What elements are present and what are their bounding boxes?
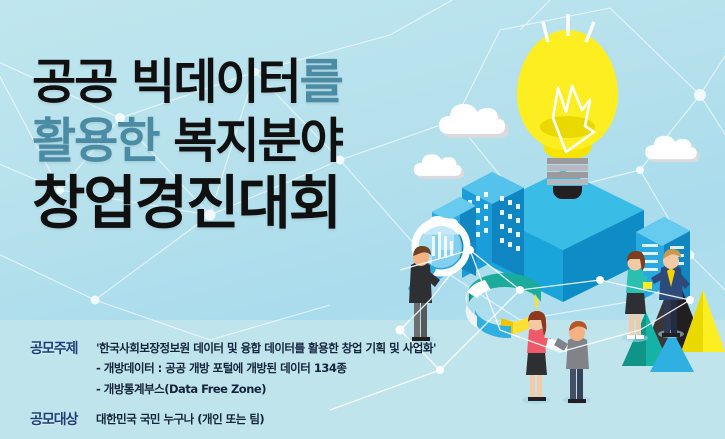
headline-line-1: 공공 빅데이터를: [32, 58, 342, 106]
headline-line-1-main: 공공 빅데이터: [32, 54, 300, 110]
headline-line-2-lead: 활용한: [32, 113, 158, 169]
info-row-topic: 공모주제 '한국사회보장정보원 데이터 및 융합 데이터를 활용한 창업 기획 …: [30, 338, 436, 399]
topic-line-1: '한국사회보장정보원 데이터 및 융합 데이터를 활용한 창업 기획 및 사업화…: [96, 338, 436, 358]
target-line-1: 대한민국 국민 누구나 (개인 또는 팀): [96, 409, 264, 429]
topic-line-2: - 개방데이터 : 공공 개방 포털에 개방된 데이터 134종: [96, 358, 436, 378]
info-body-topic: '한국사회보장정보원 데이터 및 융합 데이터를 활용한 창업 기획 및 사업화…: [96, 338, 436, 399]
headline-line-2: 활용한 복지분야: [32, 117, 342, 165]
info-label-topic: 공모주제: [30, 338, 96, 358]
headline-line-2-rest: 복지분야: [158, 113, 341, 169]
info-label-target: 공모대상: [30, 409, 96, 429]
headline-line-3: 창업경진대회: [32, 174, 342, 232]
headline: 공공 빅데이터를 활용한 복지분야 창업경진대회: [32, 58, 342, 232]
poster-canvas: 공공 빅데이터를 활용한 복지분야 창업경진대회 공모주제 '한국사회보장정보원…: [0, 0, 725, 439]
info-body-target: 대한민국 국민 누구나 (개인 또는 팀): [96, 409, 264, 429]
info-row-target: 공모대상 대한민국 국민 누구나 (개인 또는 팀): [30, 409, 264, 429]
headline-line-1-tail: 를: [300, 54, 342, 110]
topic-line-3: - 개방통계부스(Data Free Zone): [96, 379, 436, 399]
